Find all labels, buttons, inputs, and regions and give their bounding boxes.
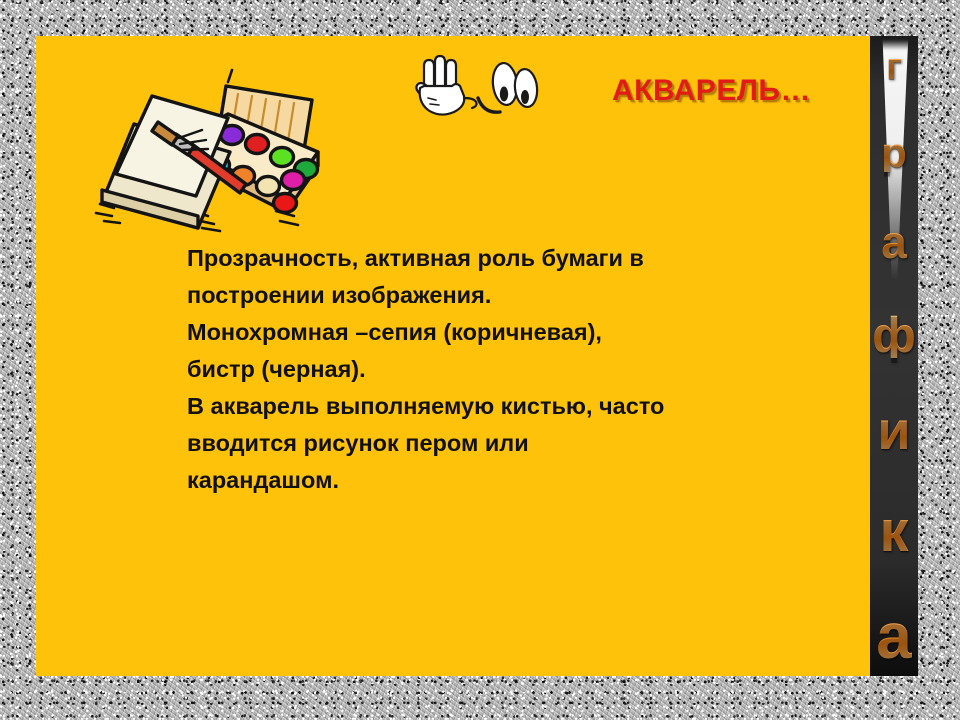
strip-letter: и xyxy=(877,407,910,457)
body-line: В акварель выполняемую кистью, часто xyxy=(187,388,807,425)
strip-letter: г xyxy=(886,50,902,85)
body-line: Прозрачность, активная роль бумаги в xyxy=(187,240,807,277)
body-line: Монохромная –сепия (коричневая), xyxy=(187,314,807,351)
waving-glove-icon xyxy=(416,56,476,115)
cartoon-eyes-icon xyxy=(491,62,539,108)
strip-letter: р xyxy=(881,134,907,173)
body-text-block: Прозрачность, активная роль бумаги в пос… xyxy=(187,240,807,499)
strip-letter: а xyxy=(881,221,907,263)
slide-title: АКВАРЕЛЬ… xyxy=(612,74,811,108)
smile-curve-icon xyxy=(478,98,500,112)
strip-letter: а xyxy=(876,607,912,666)
cartoon-hand-and-eyes xyxy=(412,54,542,134)
vertical-word-letters: г р а ф и к а xyxy=(870,36,918,676)
body-line: карандашом. xyxy=(187,462,807,499)
body-line: бистр (черная). xyxy=(187,351,807,388)
strip-letter: к xyxy=(879,505,908,558)
body-line: построении изображения. xyxy=(187,277,807,314)
body-line: вводится рисунок пером или xyxy=(187,425,807,462)
watercolor-paint-set-illustration xyxy=(80,56,330,238)
strip-letter: ф xyxy=(872,312,916,358)
vertical-word-strip: г р а ф и к а xyxy=(870,36,918,676)
slide-canvas: АКВАРЕЛЬ… Прозрачность, активная роль бу… xyxy=(0,0,960,720)
